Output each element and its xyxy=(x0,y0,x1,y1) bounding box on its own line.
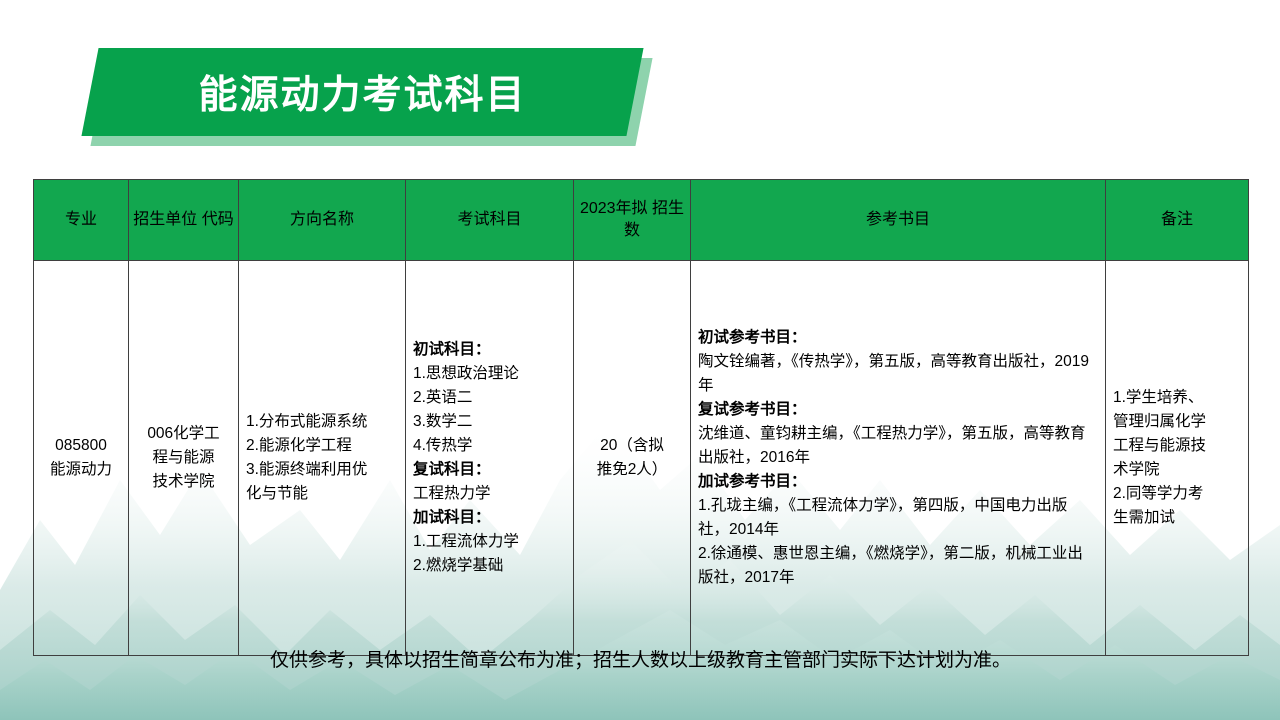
cell-direction: 1.分布式能源系统2.能源化学工程3.能源终端利用优化与节能 xyxy=(239,261,406,656)
header-line: 代码 xyxy=(202,211,234,228)
direction-lines: 1.分布式能源系统2.能源化学工程3.能源终端利用优化与节能 xyxy=(246,410,398,506)
text-line-heading: 初试参考书目： xyxy=(698,326,1098,350)
text-line: 工程热力学 xyxy=(413,482,566,506)
text-line: 1.思想政治理论 xyxy=(413,362,566,386)
text-line: 能源动力 xyxy=(41,458,121,482)
header-line: 专业 xyxy=(65,211,97,228)
table-header-row: 专业 招生单位 代码 方向名称 考试科目 2023年拟 招生数 参考书目 备注 xyxy=(34,180,1249,261)
cell-major: 085800能源动力 xyxy=(34,261,129,656)
text-line: 管理归属化学 xyxy=(1113,410,1241,434)
column-header-remark: 备注 xyxy=(1106,180,1249,261)
column-header-direction: 方向名称 xyxy=(239,180,406,261)
text-line: 术学院 xyxy=(1113,458,1241,482)
column-header-books: 参考书目 xyxy=(691,180,1106,261)
header-line: 考试科目 xyxy=(457,211,521,228)
text-line: 1.学生培养、 xyxy=(1113,386,1241,410)
header-line: 参考书目 xyxy=(866,211,930,228)
text-line: 1.工程流体力学 xyxy=(413,530,566,554)
text-line-heading: 初试科目： xyxy=(413,338,566,362)
remark-lines: 1.学生培养、管理归属化学工程与能源技术学院2.同等学力考生需加试 xyxy=(1113,386,1241,530)
text-line: 沈维道、童钧耕主编，《工程热力学》，第五版，高等教育出版社，2016年 xyxy=(698,422,1098,470)
text-line: 3.能源终端利用优 xyxy=(246,458,398,482)
text-line: 2.燃烧学基础 xyxy=(413,554,566,578)
exam-subjects-table: 专业 招生单位 代码 方向名称 考试科目 2023年拟 招生数 参考书目 备注 xyxy=(33,179,1249,656)
cell-remark: 1.学生培养、管理归属化学工程与能源技术学院2.同等学力考生需加试 xyxy=(1106,261,1249,656)
text-line: 工程与能源技 xyxy=(1113,434,1241,458)
text-line: 20（含拟 xyxy=(581,434,683,458)
header-line: 方向名称 xyxy=(290,211,354,228)
text-line: 推免2人） xyxy=(581,458,683,482)
page-title: 能源动力考试科目 xyxy=(90,48,635,136)
quota-lines: 20（含拟推免2人） xyxy=(581,434,683,482)
text-line: 3.数学二 xyxy=(413,410,566,434)
column-header-major: 专业 xyxy=(34,180,129,261)
text-line-heading: 加试科目： xyxy=(413,506,566,530)
text-line: 化与节能 xyxy=(246,482,398,506)
major-lines: 085800能源动力 xyxy=(41,434,121,482)
text-line-heading: 复试参考书目： xyxy=(698,398,1098,422)
header-line: 2023年拟 xyxy=(580,200,648,217)
text-line: 生需加试 xyxy=(1113,506,1241,530)
column-header-unit-code: 招生单位 代码 xyxy=(129,180,239,261)
footer-note: 仅供参考，具体以招生简章公布为准；招生人数以上级教育主管部门实际下达计划为准。 xyxy=(33,645,1248,672)
text-line: 陶文铨编著，《传热学》，第五版，高等教育出版社，2019年 xyxy=(698,350,1098,398)
text-line: 程与能源 xyxy=(136,446,231,470)
table-row: 085800能源动力 006化学工程与能源技术学院 1.分布式能源系统2.能源化… xyxy=(34,261,1249,656)
text-line: 006化学工 xyxy=(136,422,231,446)
column-header-subjects: 考试科目 xyxy=(406,180,574,261)
text-line: 085800 xyxy=(41,434,121,458)
text-line: 1.孔珑主编，《工程流体力学》，第四版，中国电力出版社，2014年 xyxy=(698,494,1098,542)
text-line: 4.传热学 xyxy=(413,434,566,458)
text-line: 1.分布式能源系统 xyxy=(246,410,398,434)
header-line: 招生单位 xyxy=(133,211,197,228)
text-line: 2.英语二 xyxy=(413,386,566,410)
title-banner: 能源动力考试科目 xyxy=(0,36,1280,146)
cell-unit-code: 006化学工程与能源技术学院 xyxy=(129,261,239,656)
subjects-lines: 初试科目：1.思想政治理论2.英语二3.数学二4.传热学复试科目：工程热力学加试… xyxy=(413,338,566,578)
text-line: 2.能源化学工程 xyxy=(246,434,398,458)
text-line: 2.同等学力考 xyxy=(1113,482,1241,506)
cell-books: 初试参考书目：陶文铨编著，《传热学》，第五版，高等教育出版社，2019年复试参考… xyxy=(691,261,1106,656)
text-line-heading: 加试参考书目： xyxy=(698,470,1098,494)
column-header-quota: 2023年拟 招生数 xyxy=(574,180,691,261)
text-line: 2.徐通模、惠世恩主编，《燃烧学》，第二版，机械工业出版社，2017年 xyxy=(698,542,1098,590)
cell-subjects: 初试科目：1.思想政治理论2.英语二3.数学二4.传热学复试科目：工程热力学加试… xyxy=(406,261,574,656)
text-line: 技术学院 xyxy=(136,470,231,494)
books-lines: 初试参考书目：陶文铨编著，《传热学》，第五版，高等教育出版社，2019年复试参考… xyxy=(698,326,1098,590)
header-line: 备注 xyxy=(1161,211,1193,228)
cell-quota: 20（含拟推免2人） xyxy=(574,261,691,656)
text-line-heading: 复试科目： xyxy=(413,458,566,482)
unit-code-lines: 006化学工程与能源技术学院 xyxy=(136,422,231,494)
